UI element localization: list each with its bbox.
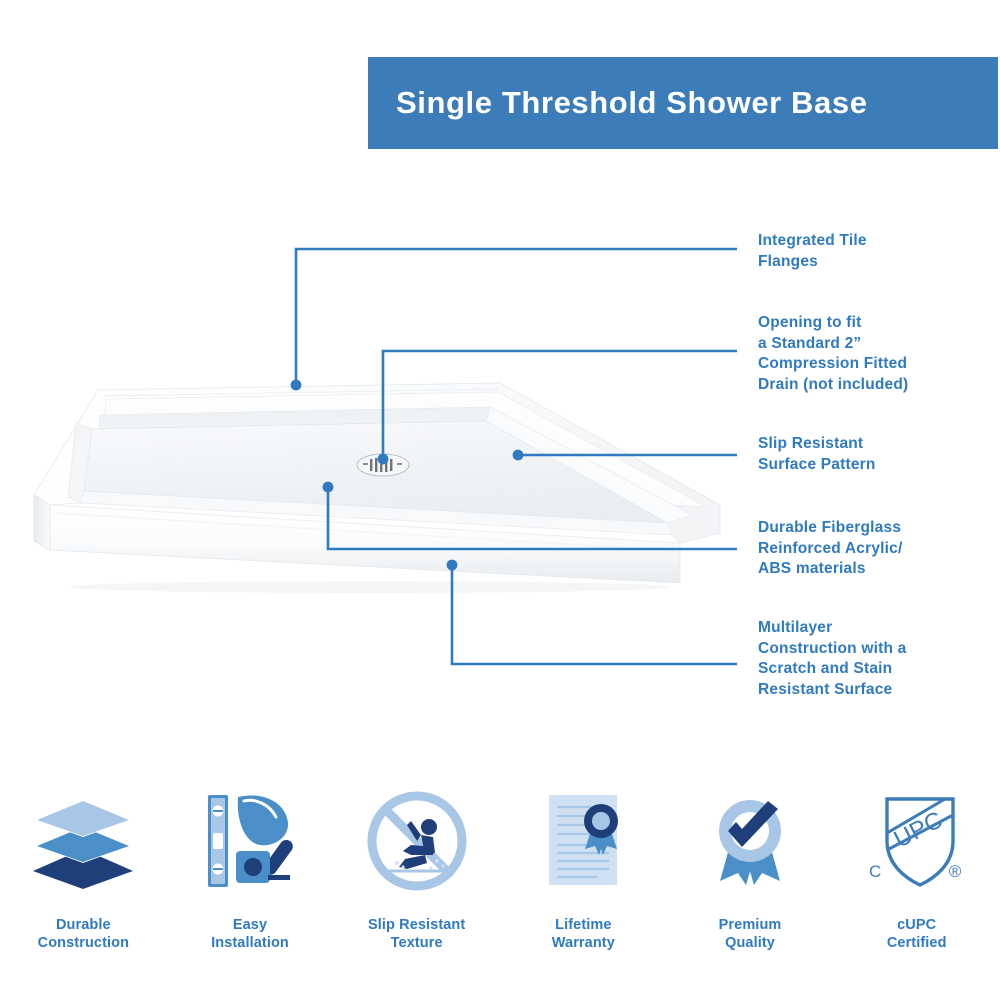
feature-slip-resistant-texture: Slip Resistant Texture bbox=[333, 770, 500, 985]
drain-grate bbox=[357, 454, 409, 476]
feature-premium-quality: Premium Quality bbox=[667, 770, 834, 985]
cupc-c-mark: C bbox=[869, 862, 881, 881]
person-head bbox=[421, 819, 437, 835]
rosette-seal-inner bbox=[592, 812, 610, 830]
feature-label-durable-construction: Durable Construction bbox=[38, 916, 129, 952]
feature-label-slip-resistant-texture: Slip Resistant Texture bbox=[368, 916, 465, 952]
feature-cupc-certified: UPC C ® cUPC Certified bbox=[833, 770, 1000, 985]
no-slip-icon bbox=[357, 782, 477, 900]
upc-shield-icon: UPC C ® bbox=[857, 782, 977, 900]
feature-lifetime-warranty: Lifetime Warranty bbox=[500, 770, 667, 985]
feature-label-easy-installation: Easy Installation bbox=[211, 916, 289, 952]
infographic-page: Single Threshold Shower Base bbox=[0, 0, 1000, 1000]
callout-label-integrated-tile-flanges: Integrated Tile Flanges bbox=[758, 231, 867, 272]
stacked-layers-icon bbox=[23, 782, 143, 900]
drain-tick-left bbox=[363, 463, 368, 465]
callout-label-slip-resistant-surface: Slip Resistant Surface Pattern bbox=[758, 434, 876, 475]
callout-label-multilayer-construction: Multilayer Construction with a Scratch a… bbox=[758, 618, 906, 700]
level-trowel-icon bbox=[190, 782, 310, 900]
layer-top bbox=[37, 801, 129, 836]
product-illustration bbox=[20, 355, 730, 595]
base-shadow bbox=[70, 581, 670, 593]
feature-label-cupc-certified: cUPC Certified bbox=[887, 916, 947, 952]
level-screw-slot-top bbox=[213, 810, 223, 812]
feature-strip: Durable Construction bbox=[0, 770, 1000, 985]
certificate-rosette-icon bbox=[523, 782, 643, 900]
feature-label-lifetime-warranty: Lifetime Warranty bbox=[552, 916, 615, 952]
title-banner: Single Threshold Shower Base bbox=[368, 57, 998, 149]
cupc-registered-mark: ® bbox=[948, 862, 961, 881]
level-vial bbox=[213, 833, 223, 849]
base-left-face bbox=[34, 495, 50, 550]
callout-label-durable-materials: Durable Fiberglass Reinforced Acrylic/ A… bbox=[758, 518, 903, 580]
drain-tick-right bbox=[397, 463, 402, 465]
check-rosette-icon bbox=[690, 782, 810, 900]
feature-label-premium-quality: Premium Quality bbox=[719, 916, 782, 952]
callout-label-drain-opening: Opening to fit a Standard 2” Compression… bbox=[758, 313, 908, 395]
shower-base-drawing bbox=[20, 355, 730, 595]
tape-measure-hub bbox=[244, 858, 262, 876]
feature-durable-construction: Durable Construction bbox=[0, 770, 167, 985]
level-screw-slot-bottom bbox=[213, 868, 223, 870]
page-title: Single Threshold Shower Base bbox=[396, 85, 868, 121]
feature-easy-installation: Easy Installation bbox=[167, 770, 334, 985]
tape-measure-blade bbox=[268, 875, 290, 880]
